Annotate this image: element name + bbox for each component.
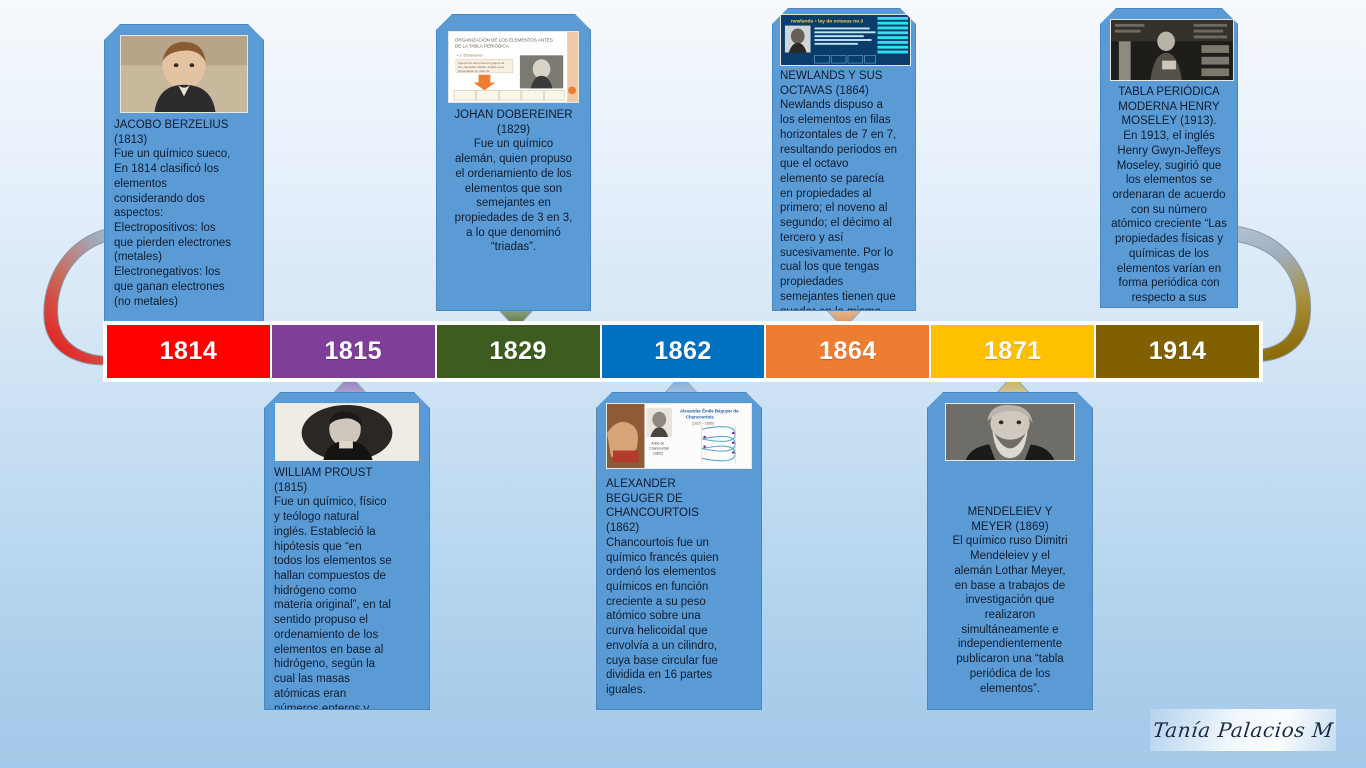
- photo-moseley-thumb: [1110, 19, 1234, 81]
- slide-dobereiner-thumb: ORGANIZACIÓN DE LOS ELEMENTOS ANTES DE L…: [448, 31, 579, 103]
- timeline-segment-1862[interactable]: 1862: [602, 325, 767, 378]
- timeline-segment-1814[interactable]: 1814: [107, 325, 272, 378]
- timeline-segment-1864[interactable]: 1864: [766, 325, 931, 378]
- card-title: NEWLANDS Y SUS OCTAVAS (1864): [780, 69, 908, 98]
- signature-text: Tanía Palacios M: [1152, 718, 1335, 742]
- card-title: TABLA PERIÓDICA MODERNA HENRY MOSELEY (1…: [1110, 85, 1228, 129]
- card-body: El químico ruso Dimitri Mendeleiev y el …: [937, 534, 1083, 696]
- svg-text:newlands・ley de octavas no.3: newlands・ley de octavas no.3: [791, 19, 864, 25]
- portrait-mendeleiev-thumb: [945, 403, 1075, 461]
- card-newlands[interactable]: newlands・ley de octavas no.3: [772, 8, 916, 311]
- card-title: JACOBO BERZELIUS: [114, 118, 254, 133]
- timeline-segment-1815[interactable]: 1815: [272, 325, 437, 378]
- card-body: (1829) Fue un químico alemán, quien prop…: [446, 123, 581, 255]
- card-title: ALEXANDER BEGUGER DE CHANCOURTOIS (1862): [606, 477, 752, 536]
- svg-text:Chancourtois: Chancourtois: [686, 415, 715, 420]
- svg-text:(1820 – 1886): (1820 – 1886): [692, 421, 714, 425]
- timeline-segment-1871[interactable]: 1871: [931, 325, 1096, 378]
- timeline-segment-1829[interactable]: 1829: [437, 325, 602, 378]
- card-body: Newlands dispuso a los elementos en fila…: [780, 98, 908, 311]
- card-body: En 1913, el inglés Henry Gwyn-Jeffeys Mo…: [1110, 129, 1228, 308]
- timeline-segment-1914[interactable]: 1914: [1096, 325, 1259, 378]
- svg-text:presentaban un valor de: presentaban un valor de: [458, 69, 490, 73]
- svg-text:(1862): (1862): [653, 451, 663, 455]
- portrait-proust-thumb: [275, 403, 419, 461]
- portrait-berzelius-thumb: [120, 35, 248, 113]
- slide-chancourtois-thumb: Alexander Émile Béguyer de Chancourtois …: [606, 403, 752, 469]
- card-body: Chancourtois fue un químico francés quie…: [606, 536, 752, 698]
- card-title: JOHAN DOBEREINER: [446, 108, 581, 123]
- card-title: WILLIAM PROUST: [274, 466, 420, 481]
- card-title: MENDELEIEV Y MEYER (1869): [937, 505, 1083, 534]
- svg-text:DE LA TABLA PERIÓDICA: DE LA TABLA PERIÓDICA: [455, 43, 509, 49]
- card-moseley[interactable]: TABLA PERIÓDICA MODERNA HENRY MOSELEY (1…: [1100, 8, 1238, 308]
- svg-text:Anillo de: Anillo de: [651, 442, 664, 446]
- card-body: (1815) Fue un químico, físico y teólogo …: [274, 481, 420, 710]
- card-chancourtois[interactable]: Alexander Émile Béguyer de Chancourtois …: [596, 392, 762, 710]
- timeline-infographic: JACOBO BERZELIUS (1813) Fue un químico s…: [0, 0, 1366, 768]
- slide-newlands-thumb: newlands・ley de octavas no.3: [780, 14, 911, 66]
- svg-text:• J. Dobereiner: • J. Dobereiner: [457, 52, 484, 57]
- author-signature: Tanía Palacios M: [1150, 709, 1336, 751]
- svg-text:ORGANIZACIÓN DE LOS ELEMENTOS: ORGANIZACIÓN DE LOS ELEMENTOS ANTES: [455, 37, 553, 43]
- card-body: (1813) Fue un químico sueco, En 1814 cla…: [114, 133, 254, 310]
- card-mendeleiev[interactable]: MENDELEIEV Y MEYER (1869) El químico rus…: [927, 392, 1093, 710]
- card-berzelius[interactable]: JACOBO BERZELIUS (1813) Fue un químico s…: [104, 24, 264, 324]
- timeline-bar: 1814 1815 1829 1862 1864 1871 1914: [104, 322, 1262, 381]
- card-dobereiner[interactable]: ORGANIZACIÓN DE LOS ELEMENTOS ANTES DE L…: [436, 14, 591, 311]
- svg-text:Alexander Émile Béguyer de: Alexander Émile Béguyer de: [680, 409, 739, 414]
- card-proust[interactable]: WILLIAM PROUST (1815) Fue un químico, fí…: [264, 392, 430, 710]
- svg-text:Chancourtois: Chancourtois: [649, 447, 669, 451]
